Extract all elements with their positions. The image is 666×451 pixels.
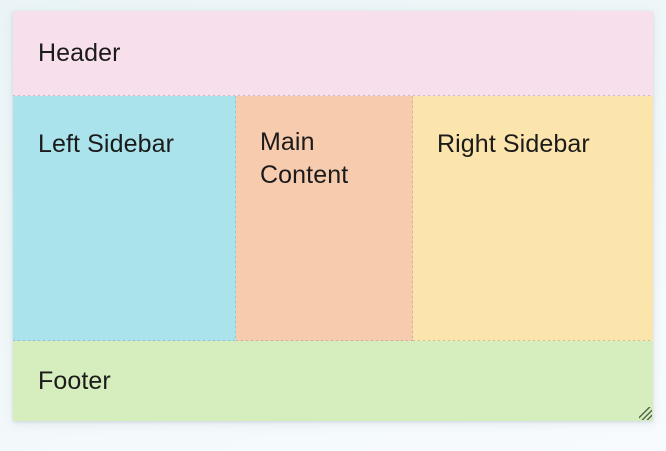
main-content-label: Main Content [260, 126, 401, 192]
grid-cell-left-sidebar: Left Sidebar [13, 96, 236, 341]
grid-cell-footer: Footer [13, 341, 653, 421]
right-sidebar-label: Right Sidebar [437, 128, 590, 161]
css-grid-layout-demo[interactable]: Header Left Sidebar Main Content Right S… [13, 11, 653, 421]
left-sidebar-label: Left Sidebar [38, 128, 174, 161]
grid-cell-main-content: Main Content [236, 96, 413, 341]
header-label: Header [38, 37, 121, 70]
footer-label: Footer [38, 365, 111, 398]
grid-cell-right-sidebar: Right Sidebar [413, 96, 653, 341]
grid-cell-header: Header [13, 11, 653, 96]
resize-grip[interactable] [639, 407, 652, 420]
